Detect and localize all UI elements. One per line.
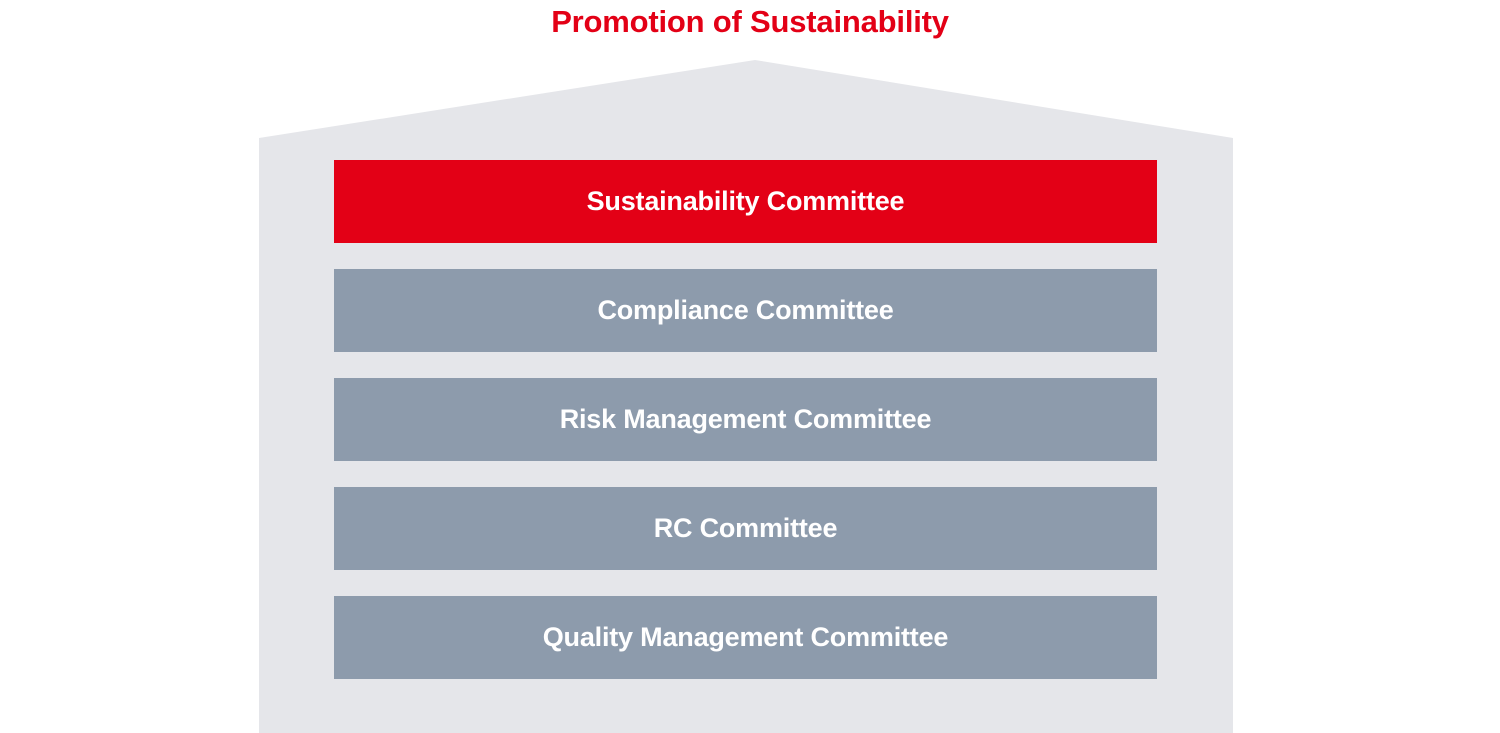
committee-bar-risk-management[interactable]: Risk Management Committee <box>334 378 1157 461</box>
committee-bar-label: Risk Management Committee <box>560 406 932 433</box>
committee-bar-rc[interactable]: RC Committee <box>334 487 1157 570</box>
committee-bar-quality-management[interactable]: Quality Management Committee <box>334 596 1157 679</box>
committee-bar-label: Quality Management Committee <box>543 624 948 651</box>
page-title: Promotion of Sustainability <box>0 0 1500 44</box>
committee-bar-label: Compliance Committee <box>597 297 893 324</box>
committee-bar-compliance[interactable]: Compliance Committee <box>334 269 1157 352</box>
committee-bar-label: Sustainability Committee <box>587 188 905 215</box>
committee-bar-label: RC Committee <box>654 515 838 542</box>
slide-canvas: Promotion of Sustainability Sustainabili… <box>0 0 1500 733</box>
committee-list: Sustainability Committee Compliance Comm… <box>334 160 1157 679</box>
committee-bar-sustainability[interactable]: Sustainability Committee <box>334 160 1157 243</box>
